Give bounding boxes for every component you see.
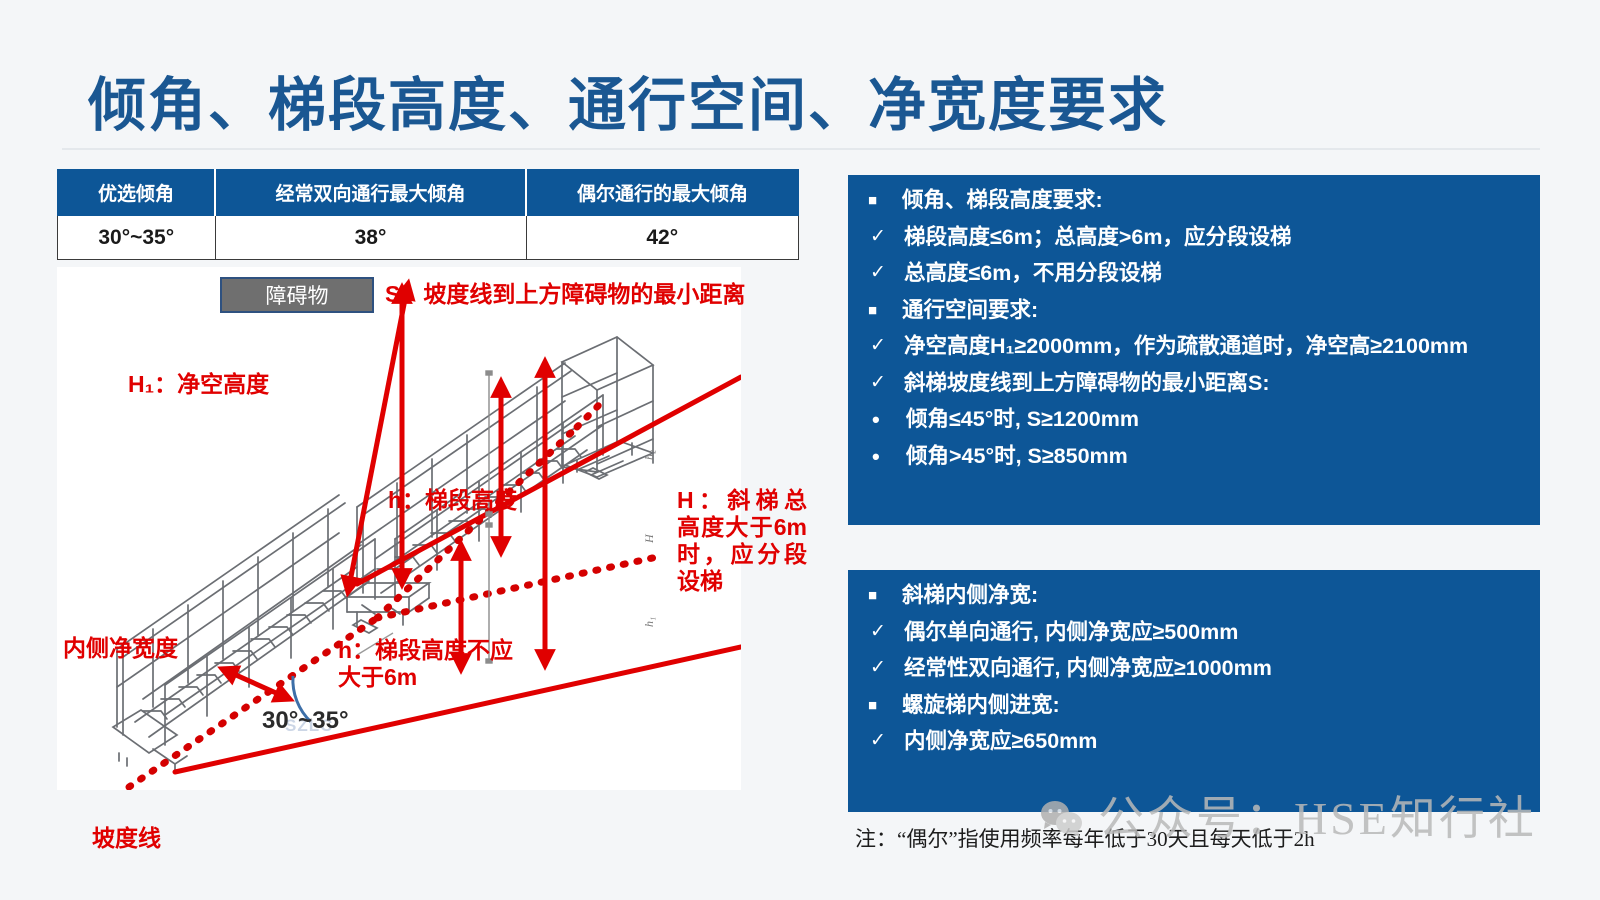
check-bullet-icon: ✓ bbox=[868, 336, 904, 355]
requirement-text: 偶尔单向通行, 内侧净宽应≥500mm bbox=[904, 622, 1530, 644]
requirement-text: 斜梯坡度线到上方障碍物的最小距离S: bbox=[904, 373, 1530, 395]
requirement-item: •倾角>45°时, S≥850mm bbox=[848, 446, 1540, 468]
requirement-text: 内侧净宽应≥650mm bbox=[904, 731, 1530, 753]
annotation-min-distance: S：坡度线到上方障碍物的最小距离 bbox=[385, 281, 745, 308]
requirement-text: 总高度≤6m，不用分段设梯 bbox=[904, 263, 1530, 285]
requirement-text: 通行空间要求: bbox=[902, 300, 1530, 322]
requirement-text: 倾角>45°时, S≥850mm bbox=[906, 446, 1530, 468]
requirements-list-2: ■斜梯内侧净宽:✓偶尔单向通行, 内侧净宽应≥500mm✓经常性双向通行, 内侧… bbox=[848, 570, 1540, 753]
requirement-item: ✓净空高度H₁≥2000mm，作为疏散通道时，净空高≥2100mm bbox=[848, 336, 1540, 358]
requirement-item: ✓梯段高度≤6m；总高度>6m，应分段设梯 bbox=[848, 227, 1540, 249]
staircase-diagram-panel: SZLC bbox=[57, 267, 741, 790]
requirement-item: ■倾角、梯段高度要求: bbox=[848, 190, 1540, 212]
table-header-row: 优选倾角 经常双向通行最大倾角 偶尔通行的最大倾角 bbox=[58, 170, 799, 216]
requirement-item: ■通行空间要求: bbox=[848, 300, 1540, 322]
requirement-text: 螺旋梯内侧进宽: bbox=[902, 695, 1530, 717]
dot-bullet-icon: • bbox=[868, 446, 906, 468]
requirement-item: ✓经常性双向通行, 内侧净宽应≥1000mm bbox=[848, 658, 1540, 680]
square-bullet-icon: ■ bbox=[868, 300, 902, 318]
obstacle-box: 障碍物 bbox=[220, 277, 374, 313]
requirements-panel-angle-and-clearance: ■倾角、梯段高度要求:✓梯段高度≤6m；总高度>6m，应分段设梯✓总高度≤6m，… bbox=[848, 175, 1540, 525]
requirement-text: 斜梯内侧净宽: bbox=[902, 585, 1530, 607]
table-header-frequent-bidirectional-max-angle: 经常双向通行最大倾角 bbox=[215, 170, 526, 216]
table-cell-occasional-max-angle: 42° bbox=[526, 216, 799, 260]
dot-bullet-icon: • bbox=[868, 409, 906, 431]
footer-note: 注：“偶尔”指使用频率每年低于30天且每天低于2h bbox=[855, 823, 1315, 853]
requirement-item: ■螺旋梯内侧进宽: bbox=[848, 695, 1540, 717]
table-cell-frequent-bidirectional-max-angle: 38° bbox=[215, 216, 526, 260]
table-header-occasional-max-angle: 偶尔通行的最大倾角 bbox=[526, 170, 799, 216]
requirement-item: ■斜梯内侧净宽: bbox=[848, 585, 1540, 607]
staircase-diagram-svg bbox=[57, 267, 741, 790]
annotation-total-height: H：斜梯总高度大于6m时，应分段设梯 bbox=[677, 487, 807, 596]
requirement-text: 经常性双向通行, 内侧净宽应≥1000mm bbox=[904, 658, 1530, 680]
requirement-item: ✓斜梯坡度线到上方障碍物的最小距离S: bbox=[848, 373, 1540, 395]
requirement-text: 倾角≤45°时, S≥1200mm bbox=[906, 409, 1530, 431]
requirement-item: ✓总高度≤6m，不用分段设梯 bbox=[848, 263, 1540, 285]
title-divider bbox=[62, 148, 1540, 150]
square-bullet-icon: ■ bbox=[868, 585, 902, 603]
check-bullet-icon: ✓ bbox=[868, 263, 904, 282]
check-bullet-icon: ✓ bbox=[868, 622, 904, 641]
requirement-text: 倾角、梯段高度要求: bbox=[902, 190, 1530, 212]
check-bullet-icon: ✓ bbox=[868, 658, 904, 677]
annotation-clear-height: H₁：净空高度 bbox=[128, 371, 269, 398]
dimension-label-h2: h₂ bbox=[642, 450, 657, 460]
annotation-flight-height-limit: h：梯段高度不应大于6m bbox=[338, 637, 518, 691]
check-bullet-icon: ✓ bbox=[868, 731, 904, 750]
annotation-angle-range: 30°~35° bbox=[262, 707, 349, 735]
requirements-panel-clear-width: ■斜梯内侧净宽:✓偶尔单向通行, 内侧净宽应≥500mm✓经常性双向通行, 内侧… bbox=[848, 570, 1540, 812]
table-cell-preferred-angle: 30°~35° bbox=[58, 216, 216, 260]
check-bullet-icon: ✓ bbox=[868, 373, 904, 392]
requirement-item: ✓内侧净宽应≥650mm bbox=[848, 731, 1540, 753]
requirement-item: ✓偶尔单向通行, 内侧净宽应≥500mm bbox=[848, 622, 1540, 644]
requirements-list-1: ■倾角、梯段高度要求:✓梯段高度≤6m；总高度>6m，应分段设梯✓总高度≤6m，… bbox=[848, 175, 1540, 468]
dimension-label-h1: h₁ bbox=[642, 617, 657, 627]
square-bullet-icon: ■ bbox=[868, 695, 902, 713]
check-bullet-icon: ✓ bbox=[868, 227, 904, 246]
requirement-text: 净空高度H₁≥2000mm，作为疏散通道时，净空高≥2100mm bbox=[904, 336, 1530, 358]
page-title: 倾角、梯段高度、通行空间、净宽度要求 bbox=[88, 58, 1168, 142]
annotation-slope-line: 坡度线 bbox=[92, 825, 161, 852]
dimension-label-H: H bbox=[642, 534, 657, 543]
angle-requirements-table: 优选倾角 经常双向通行最大倾角 偶尔通行的最大倾角 30°~35° 38° 42… bbox=[57, 169, 799, 260]
square-bullet-icon: ■ bbox=[868, 190, 902, 208]
slide-canvas: 倾角、梯段高度、通行空间、净宽度要求 优选倾角 经常双向通行最大倾角 偶尔通行的… bbox=[0, 0, 1600, 900]
requirement-item: •倾角≤45°时, S≥1200mm bbox=[848, 409, 1540, 431]
table-header-preferred-angle: 优选倾角 bbox=[58, 170, 216, 216]
annotation-inner-clear-width: 内侧净宽度 bbox=[63, 635, 178, 662]
annotation-flight-height: h：梯段高度 bbox=[388, 487, 517, 514]
requirement-text: 梯段高度≤6m；总高度>6m，应分段设梯 bbox=[904, 227, 1530, 249]
table-row: 30°~35° 38° 42° bbox=[58, 216, 799, 260]
